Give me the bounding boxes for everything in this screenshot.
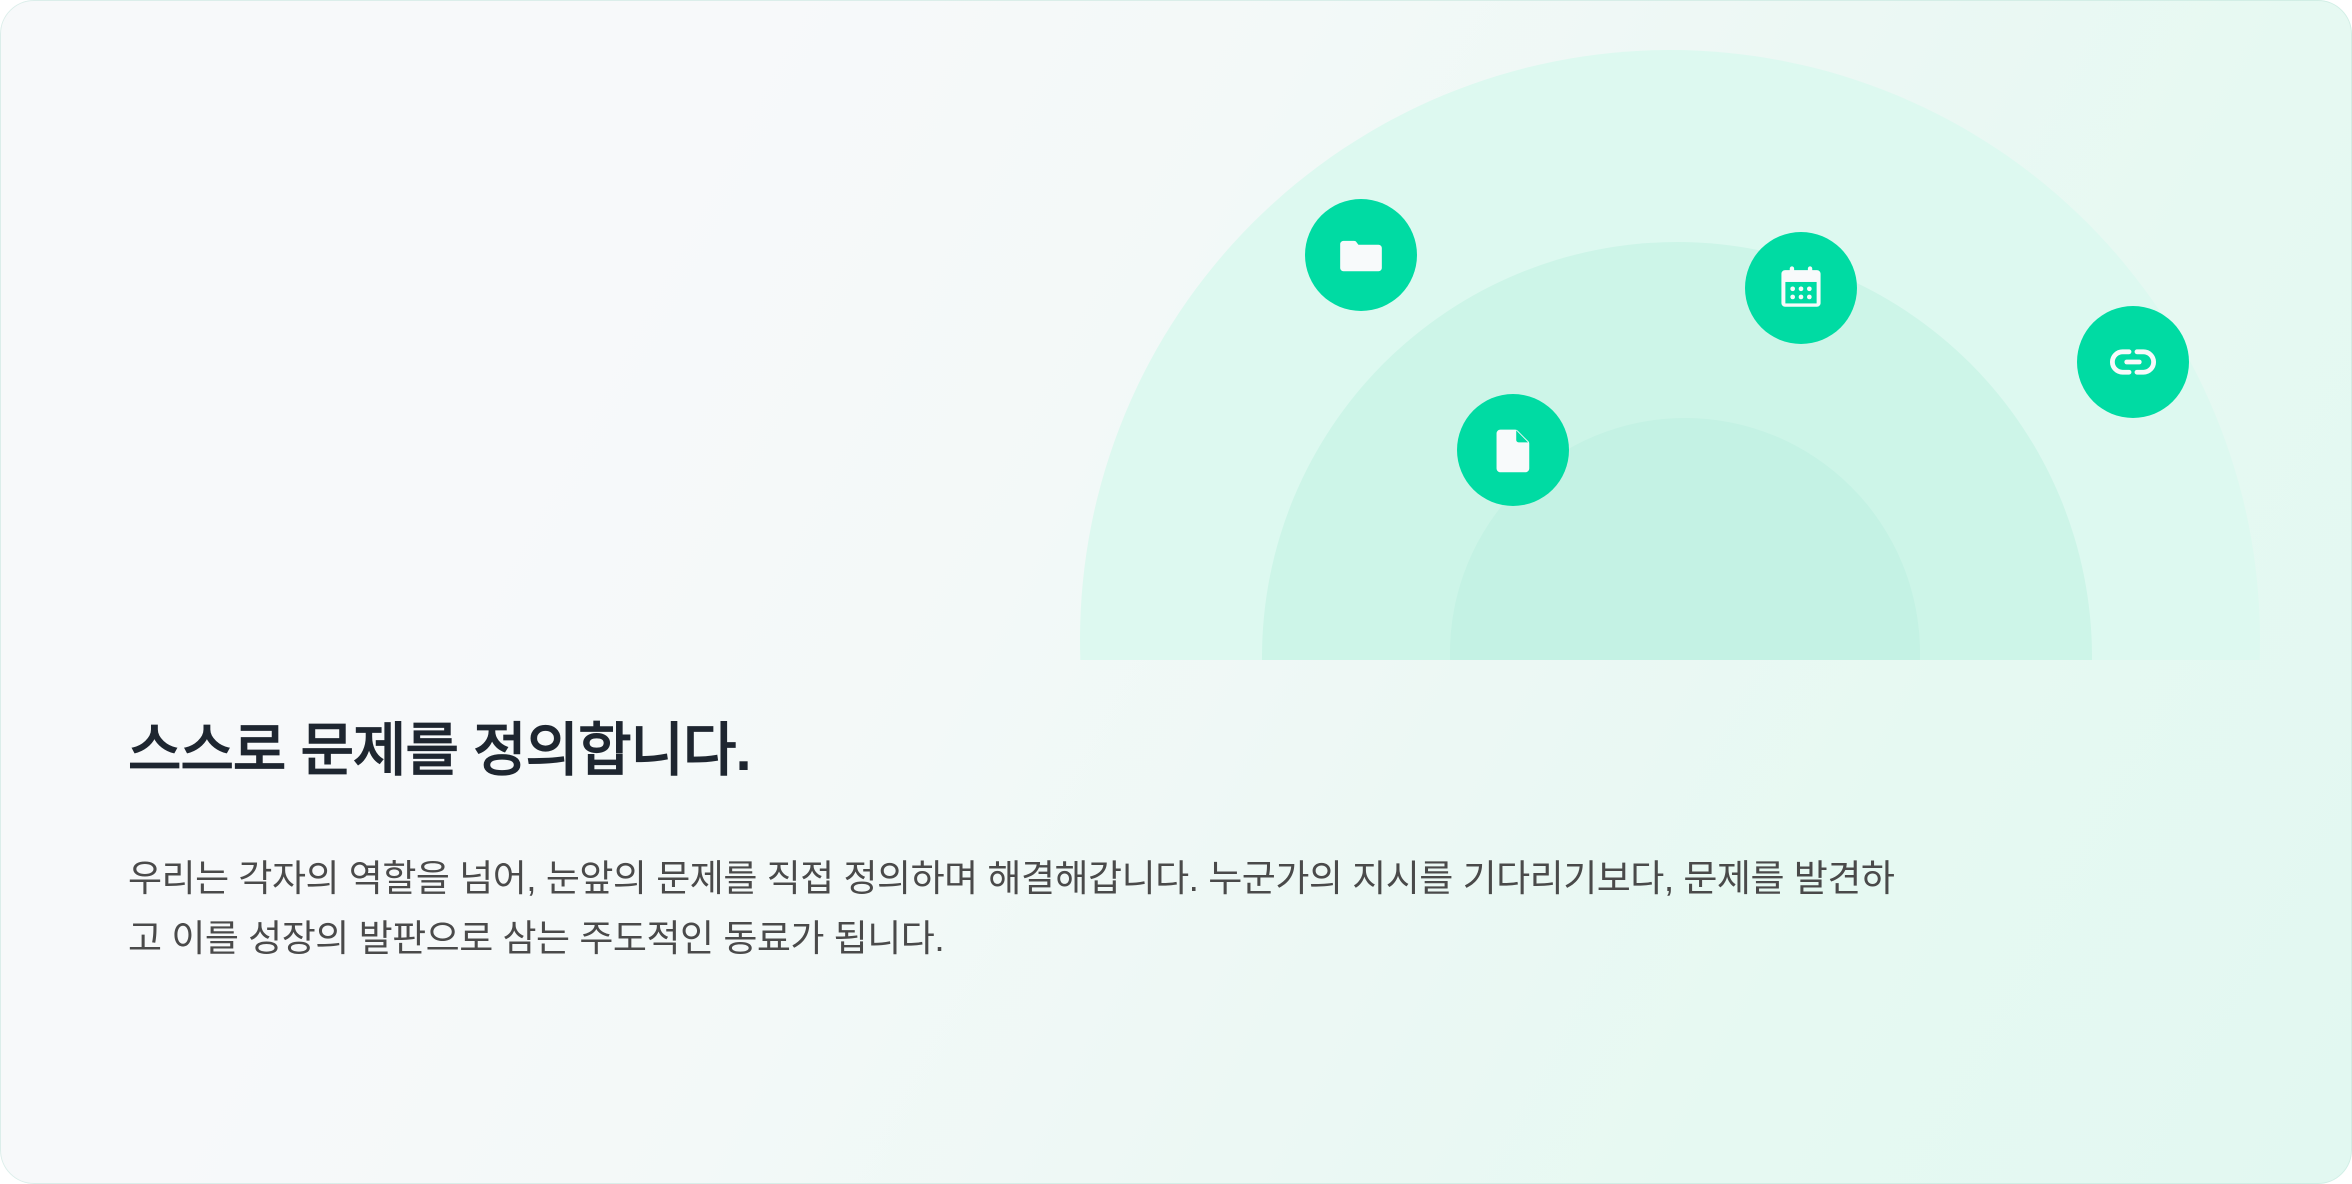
value-card: 스스로 문제를 정의합니다. 우리는 각자의 역할을 넘어, 눈앞의 문제를 직… xyxy=(0,0,2352,1184)
badge-folder xyxy=(1305,199,1417,311)
badge-calendar xyxy=(1745,232,1857,344)
badge-link xyxy=(2077,306,2189,418)
link-icon xyxy=(2108,337,2158,387)
page-title: 스스로 문제를 정의합니다. xyxy=(128,716,1964,787)
description-text: 우리는 각자의 역할을 넘어, 눈앞의 문제를 직접 정의하며 해결해갑니다. … xyxy=(128,849,1918,969)
calendar-icon xyxy=(1776,263,1826,313)
folder-icon xyxy=(1336,230,1386,280)
document-icon xyxy=(1488,425,1538,475)
copy-block: 스스로 문제를 정의합니다. 우리는 각자의 역할을 넘어, 눈앞의 문제를 직… xyxy=(128,716,1964,969)
badge-document xyxy=(1457,394,1569,506)
